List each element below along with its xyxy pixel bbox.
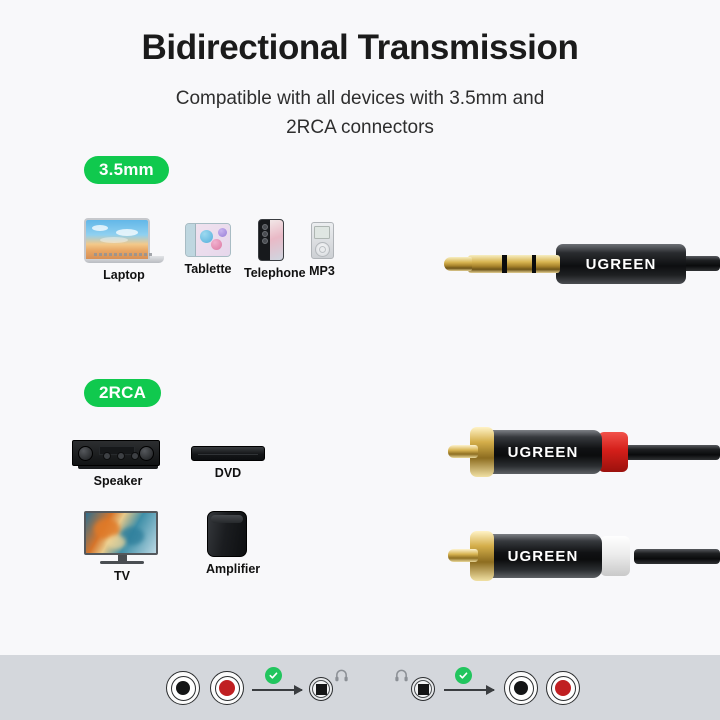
device-label: Amplifier: [206, 562, 248, 576]
aux-jack-3-5mm: [309, 677, 333, 701]
connector-rca-red: UGREEN: [448, 424, 720, 480]
check-icon: [455, 667, 472, 684]
rca-jack-white: [504, 671, 538, 705]
device-dvd: DVD: [190, 446, 266, 480]
amplifier-speaker-icon: [207, 511, 247, 557]
device-amplifier: Amplifier: [206, 511, 248, 576]
smartphone-icon: [258, 219, 284, 261]
connector-barrel: UGREEN: [556, 244, 686, 284]
headphone-icon: [334, 668, 349, 687]
device-label: Telephone: [244, 266, 298, 280]
subtitle-line-2: 2RCA connectors: [0, 113, 720, 142]
device-label: Tablette: [182, 262, 234, 276]
arrow-right-icon: [444, 689, 494, 691]
connector-rca-white: UGREEN: [448, 528, 720, 584]
tablet-icon: [185, 223, 231, 257]
connector-3-5mm-plug: UGREEN: [432, 236, 720, 292]
rca-jack-red: [210, 671, 244, 705]
device-label: DVD: [190, 466, 266, 480]
infographic-page: Bidirectional Transmission Compatible wi…: [0, 0, 720, 720]
brand-label: UGREEN: [586, 256, 657, 273]
rca-jack-white: [166, 671, 200, 705]
device-label: TV: [84, 569, 160, 583]
device-telephone: Telephone: [244, 219, 298, 280]
connector-body: UGREEN: [484, 430, 602, 474]
device-label: MP3: [308, 264, 336, 278]
badge-3-5mm: 3.5mm: [84, 156, 169, 184]
page-subtitle: Compatible with all devices with 3.5mm a…: [0, 84, 720, 142]
device-laptop: Laptop: [84, 218, 164, 282]
dvd-player-icon: [191, 446, 265, 461]
device-tv: TV: [84, 511, 160, 583]
av-receiver-icon: [72, 440, 164, 469]
device-label: Laptop: [84, 268, 164, 282]
badge-2rca: 2RCA: [84, 379, 161, 407]
headphone-icon: [394, 668, 409, 687]
compatibility-footer: [0, 655, 720, 720]
arrow-right-icon: [252, 689, 302, 691]
aux-jack-3-5mm: [411, 677, 435, 701]
device-tablette: Tablette: [182, 223, 234, 276]
band-white: [600, 536, 630, 576]
device-label: Speaker: [72, 474, 164, 488]
device-speaker: Speaker: [72, 440, 164, 488]
television-icon: [84, 511, 160, 564]
subtitle-line-1: Compatible with all devices with 3.5mm a…: [0, 84, 720, 113]
band-red: [598, 432, 628, 472]
mp3-player-icon: [311, 222, 334, 259]
page-title: Bidirectional Transmission: [0, 28, 720, 68]
connector-body: UGREEN: [484, 534, 602, 578]
brand-label: UGREEN: [508, 444, 579, 461]
brand-label: UGREEN: [508, 548, 579, 565]
laptop-icon: [84, 218, 164, 263]
check-icon: [265, 667, 282, 684]
rca-jack-red: [546, 671, 580, 705]
device-mp3: MP3: [308, 222, 336, 278]
